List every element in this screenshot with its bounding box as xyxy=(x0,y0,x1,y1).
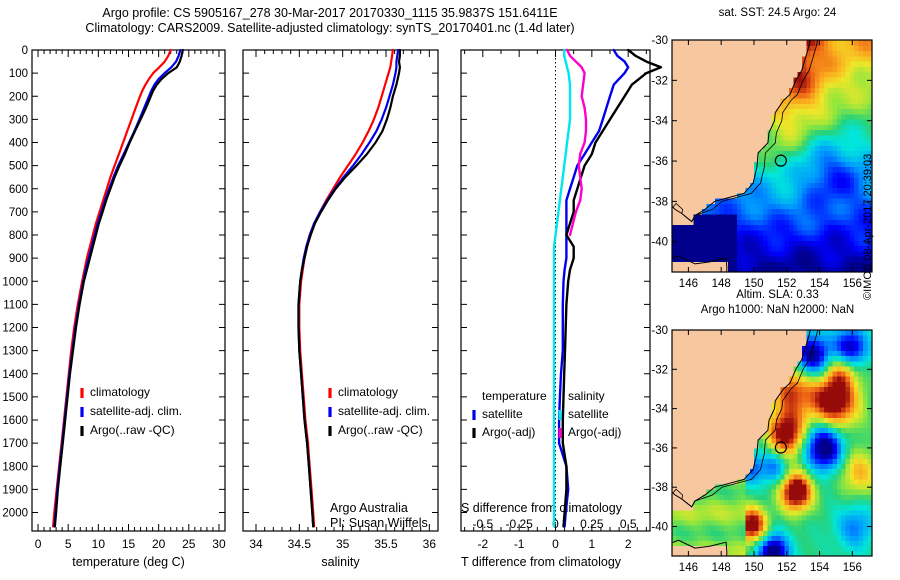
depth-tick-label: 200 xyxy=(9,91,28,103)
map-lon-tick-label: 146 xyxy=(679,562,698,574)
depth-tick-label: 1300 xyxy=(2,346,28,358)
temp-xtick-label: 10 xyxy=(92,537,106,551)
sal-series-0 xyxy=(299,50,393,526)
map-lat-tick-label: -30 xyxy=(651,325,668,337)
legend-group-header: salinity xyxy=(568,389,605,403)
legend-label: climatology xyxy=(90,385,150,399)
page-title: Argo profile: CS 5905167_278 30-Mar-2017… xyxy=(0,6,660,36)
diff-xtick-label: 0 xyxy=(552,537,559,551)
depth-tick-label: 500 xyxy=(9,161,28,173)
sst-map-title: sat. SST: 24.5 Argo: 24 xyxy=(655,6,900,21)
temp-xtick-label: 25 xyxy=(182,537,196,551)
depth-tick-label: 1800 xyxy=(2,461,28,473)
legend-label: Argo(-adj) xyxy=(568,425,621,439)
sla-title-line-2: Argo h1000: NaN h2000: NaN xyxy=(655,303,900,318)
figure-canvas: Argo profile: CS 5905167_278 30-Mar-2017… xyxy=(0,0,900,580)
sal-axis-label: salinity xyxy=(321,555,360,569)
temp-series-2 xyxy=(55,50,183,526)
map-lat-tick-label: -34 xyxy=(651,404,668,416)
depth-tick-label: 1900 xyxy=(2,484,28,496)
map-lat-tick-label: -40 xyxy=(651,522,668,534)
legend-label: Argo(..raw -QC) xyxy=(90,423,175,437)
title-line-1: Argo profile: CS 5905167_278 30-Mar-2017… xyxy=(0,6,660,21)
depth-tick-label: 700 xyxy=(9,207,28,219)
temp-xtick-label: 0 xyxy=(35,537,42,551)
attribution-pi: PI: Susan Wijffels xyxy=(330,516,428,530)
copyright-text: ©IMOS 08-Apr-2017 20:39:03 xyxy=(862,60,874,300)
map-lat-tick-label: -34 xyxy=(651,116,668,128)
depth-tick-label: 600 xyxy=(9,184,28,196)
diff-xtick-label: 1 xyxy=(589,537,596,551)
depth-tick-label: 0 xyxy=(22,45,28,57)
depth-tick-label: 400 xyxy=(9,138,28,150)
depth-tick-label: 1600 xyxy=(2,415,28,427)
legend-label: satellite xyxy=(482,407,523,421)
salinity-panel xyxy=(243,50,438,531)
map-lon-tick-label: 152 xyxy=(777,562,796,574)
map-lat-tick-label: -38 xyxy=(651,196,668,208)
diff-top-xtick-label: 0.25 xyxy=(580,517,604,531)
map-lat-tick-label: -36 xyxy=(651,156,668,168)
map-lon-tick-label: 154 xyxy=(810,562,830,574)
diff-xtick-label: 2 xyxy=(625,537,632,551)
map-lat-tick-label: -32 xyxy=(651,75,668,87)
depth-tick-label: 1100 xyxy=(3,299,28,311)
depth-tick-label: 1000 xyxy=(2,276,28,288)
legend-label: satellite-adj. clim. xyxy=(338,404,430,418)
map-lat-tick-label: -38 xyxy=(651,482,668,494)
map-lon-tick-label: 150 xyxy=(744,562,763,574)
temp-series-1 xyxy=(54,50,180,526)
depth-tick-label: 800 xyxy=(9,230,28,242)
diff-top-xtick-label: 0.5 xyxy=(620,517,637,531)
legend-label: satellite xyxy=(568,407,609,421)
diff-top-xtick-label: -0.5 xyxy=(472,517,493,531)
diff-top-xtick-label: -0.25 xyxy=(505,517,533,531)
legend-label: Argo(..raw -QC) xyxy=(338,423,423,437)
temp-series-0 xyxy=(53,50,171,526)
depth-tick-label: 2000 xyxy=(2,508,28,520)
sal-xtick-label: 35 xyxy=(336,537,350,551)
depth-tick-label: 1400 xyxy=(2,369,28,381)
map-lat-tick-label: -32 xyxy=(651,364,668,376)
sal-series-2 xyxy=(299,50,400,526)
sal-xtick-label: 34.5 xyxy=(288,537,312,551)
depth-tick-label: 300 xyxy=(9,114,28,126)
diff-axis-label: T difference from climatology xyxy=(461,555,622,569)
temp-axis-label: temperature (deg C) xyxy=(72,555,185,569)
depth-tick-label: 900 xyxy=(9,253,28,265)
depth-tick-label: 1500 xyxy=(2,392,28,404)
map-lat-tick-label: -30 xyxy=(651,35,668,47)
title-line-2: Climatology: CARS2009. Satellite-adjuste… xyxy=(0,21,660,36)
temp-xtick-label: 5 xyxy=(65,537,72,551)
diff-top-axis-label: S difference from climatology xyxy=(461,501,623,515)
attribution-org: Argo Australia xyxy=(330,501,408,515)
map-lat-tick-label: -36 xyxy=(651,443,668,455)
depth-tick-label: 1200 xyxy=(2,323,28,335)
diff-xtick-label: -1 xyxy=(514,537,525,551)
sal-series-1 xyxy=(299,50,399,526)
legend-label: climatology xyxy=(338,385,398,399)
legend-group-header: temperature xyxy=(482,389,547,403)
diff-xtick-label: -2 xyxy=(477,537,488,551)
temp-xtick-label: 30 xyxy=(212,537,226,551)
depth-tick-label: 100 xyxy=(9,68,28,80)
depth-tick-label: 1700 xyxy=(2,438,28,450)
map-lon-tick-label: 156 xyxy=(843,562,862,574)
map-lat-tick-label: -40 xyxy=(651,237,668,249)
legend-label: satellite-adj. clim. xyxy=(90,404,182,418)
sal-xtick-label: 35.5 xyxy=(374,537,398,551)
map-lon-tick-label: 148 xyxy=(712,562,731,574)
temp-xtick-label: 15 xyxy=(122,537,136,551)
temp-xtick-label: 20 xyxy=(152,537,166,551)
sal-xtick-label: 36 xyxy=(423,537,437,551)
sal-xtick-label: 34 xyxy=(249,537,263,551)
diff-series-1 xyxy=(563,50,661,526)
legend-label: Argo(-adj) xyxy=(482,425,535,439)
